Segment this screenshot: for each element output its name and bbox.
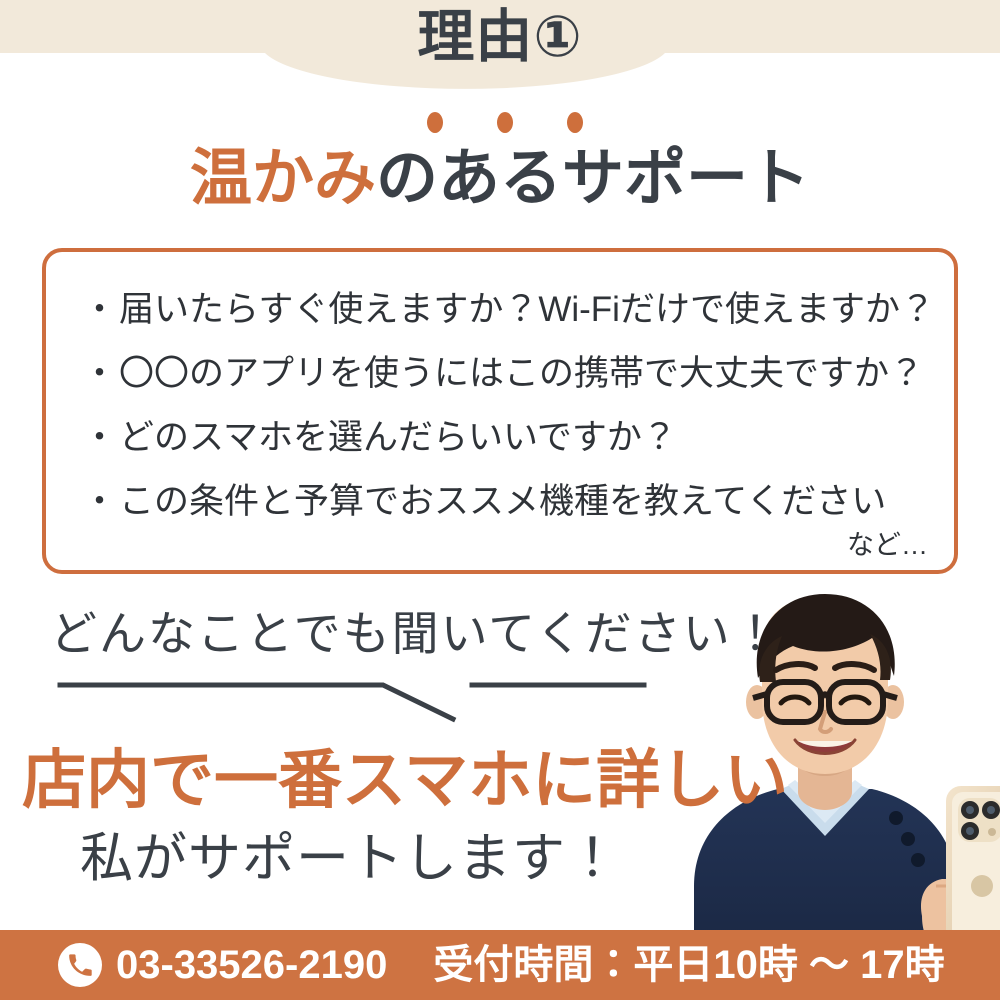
speech-tail-divider (40, 668, 680, 734)
list-item-label: どのスマホを選んだらいいですか？ (119, 406, 677, 470)
page-title: 理由① (0, 6, 1000, 68)
list-item-label: 〇〇のアプリを使うにはこの携帯で大丈夫ですか？ (119, 342, 924, 406)
list-item: ・ 〇〇のアプリを使うにはこの携帯で大丈夫ですか？ (82, 342, 940, 406)
bullet-icon: ・ (82, 406, 117, 470)
list-item: ・ どのスマホを選んだらいいですか？ (82, 406, 940, 470)
emphasis-dots (0, 112, 1000, 133)
list-item-label: 届いたらすぐ使えますか？Wi-Fiだけで使えますか？ (119, 278, 935, 342)
question-list: ・ 届いたらすぐ使えますか？Wi-Fiだけで使えますか？ ・ 〇〇のアプリを使う… (82, 278, 940, 534)
closing-headline: 店内で一番スマホに詳しい (22, 742, 788, 818)
etc-label: など… (847, 530, 928, 560)
closing-subhead: 私がサポートします！ (0, 826, 700, 892)
ask-anything-text: どんなことでも聞いてください！ (50, 605, 781, 663)
bullet-icon: ・ (82, 342, 117, 406)
list-item: ・ 届いたらすぐ使えますか？Wi-Fiだけで使えますか？ (82, 278, 940, 342)
bullet-icon: ・ (82, 470, 117, 534)
bullet-icon: ・ (82, 278, 117, 342)
subtitle-rest: のあるサポート (376, 144, 810, 213)
phone-handset-icon (58, 943, 102, 987)
list-item-label: この条件と予算でおススメ機種を教えてください (119, 470, 886, 534)
emphasis-dot-icon (567, 112, 583, 133)
emphasis-dot-icon (427, 112, 443, 133)
subtitle-highlight: 温かみ (190, 144, 376, 213)
contact-footer-bar: 03-33526-2190 受付時間：平日10時 〜 17時 (0, 930, 1000, 1000)
question-box: ・ 届いたらすぐ使えますか？Wi-Fiだけで使えますか？ ・ 〇〇のアプリを使う… (42, 248, 958, 574)
phone-number[interactable]: 03-33526-2190 (116, 942, 387, 988)
business-hours: 受付時間：平日10時 〜 17時 (433, 942, 944, 988)
subtitle: 温かみのあるサポート (0, 142, 1000, 216)
list-item: ・ この条件と予算でおススメ機種を教えてください (82, 470, 940, 534)
emphasis-dot-icon (497, 112, 513, 133)
promo-poster: 理由① 温かみのあるサポート ・ 届いたらすぐ使えますか？Wi-Fiだけで使えま… (0, 0, 1000, 1000)
